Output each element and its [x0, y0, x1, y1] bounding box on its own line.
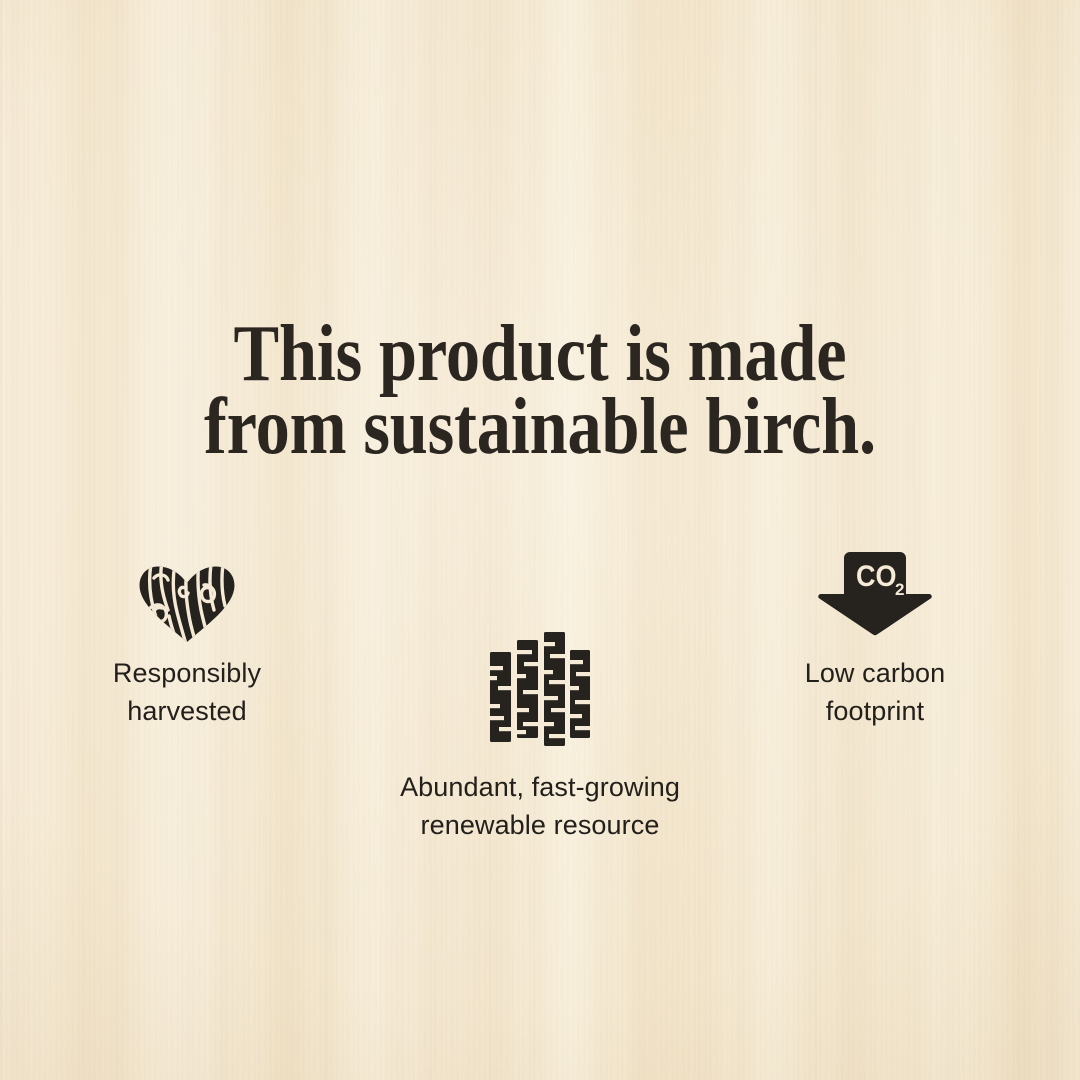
feature-icon-slot: CO 2 — [710, 552, 1040, 644]
feature-icon-slot — [22, 552, 352, 642]
feature-label: Abundant, fast-growing renewable resourc… — [375, 768, 705, 844]
feature-label: Low carbon footprint — [710, 654, 1040, 730]
co2-subscript: 2 — [895, 580, 904, 599]
feature-low-carbon-footprint: CO 2 Low carbon footprint — [710, 552, 1040, 730]
birch-logs-icon — [489, 630, 591, 746]
feature-list: Responsibly harvested — [0, 0, 1080, 1080]
feature-responsibly-harvested: Responsibly harvested — [22, 552, 352, 730]
feature-label: Responsibly harvested — [22, 654, 352, 730]
birch-panel: This product is made from sustainable bi… — [0, 0, 1080, 1080]
feature-abundant-renewable: Abundant, fast-growing renewable resourc… — [375, 628, 705, 844]
feature-icon-slot — [375, 628, 705, 746]
wood-grain-heart-icon — [138, 564, 236, 642]
co2-label: CO — [856, 560, 896, 594]
co2-down-arrow-icon: CO 2 — [818, 552, 932, 636]
